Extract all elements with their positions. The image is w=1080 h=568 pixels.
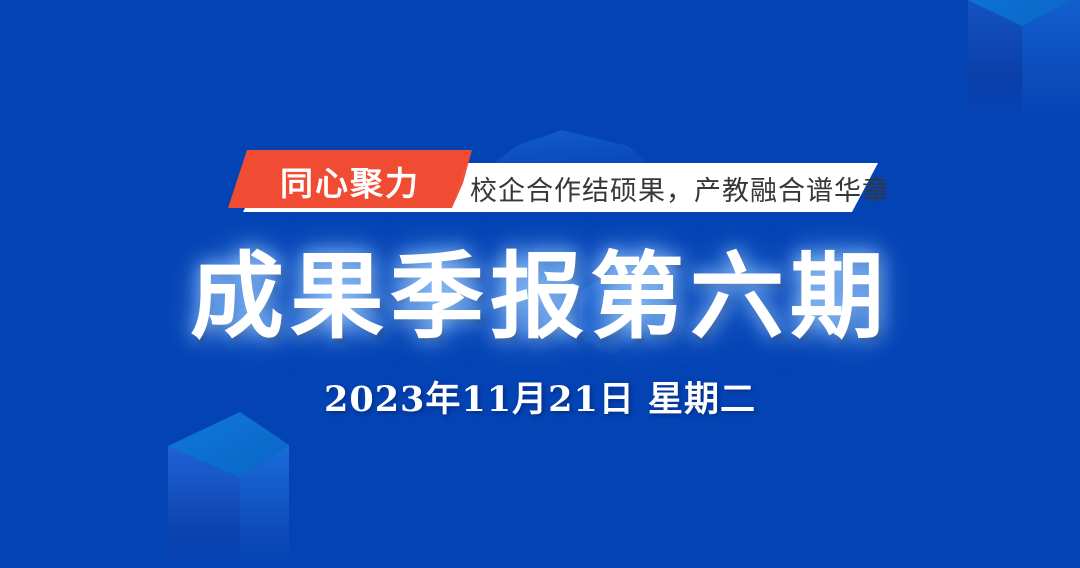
poster-canvas: 同心聚力 校企合作结硕果，产教融合谱华章 成果季报第六期 2023年11月21日…: [0, 0, 1080, 568]
banner-subtitle: 校企合作结硕果，产教融合谱华章: [470, 166, 890, 210]
banner-tag-label: 同心聚力: [256, 158, 444, 204]
cube-bottom-left-icon: [168, 412, 289, 568]
page-title: 成果季报第六期: [190, 248, 890, 347]
cube-top-right-icon: [968, 0, 1080, 120]
title-container: 成果季报第六期: [0, 248, 1080, 347]
publish-date: 2023年11月21日 星期二: [324, 371, 756, 422]
date-container: 2023年11月21日 星期二: [0, 371, 1080, 422]
